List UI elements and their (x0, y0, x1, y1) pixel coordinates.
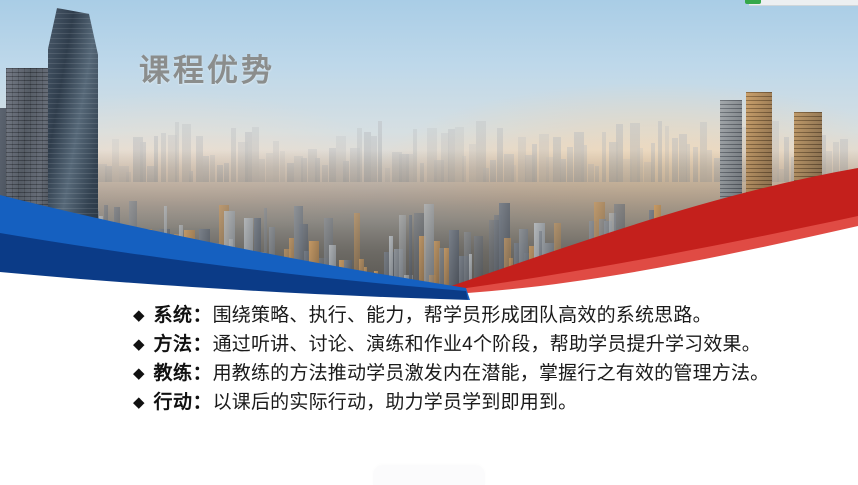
bullet-label: 系统 (154, 306, 193, 325)
bullet-colon: ： (193, 364, 212, 383)
bullet-colon: ： (193, 393, 212, 412)
diamond-bullet-icon: ◆ (133, 395, 145, 410)
page-title: 课程优势 (139, 45, 275, 90)
right-tower-warm-2 (794, 112, 822, 300)
right-tower-warm-1 (746, 92, 772, 300)
bullet-text: 用教练的方法推动学员激发内在潜能，掌握行之有效的管理方法。 (213, 364, 770, 383)
hero-cityscape-photo (0, 0, 858, 300)
bullet-colon: ： (193, 335, 212, 354)
green-status-marker (745, 0, 761, 4)
bullet-text: 通过听讲、讨论、演练和作业4个阶段，帮助学员提升学习效果。 (213, 335, 761, 354)
list-item: ◆ 方法 ： 通过听讲、讨论、演练和作业4个阶段，帮助学员提升学习效果。 (0, 335, 858, 354)
top-toolbar-strip[interactable] (749, 0, 858, 6)
left-tower-mid (6, 68, 48, 300)
slide-canvas: 课程优势 ◆ 系统 ： 围绕策略、执行、能力，帮学员形成团队高效的系统思路。 ◆… (0, 0, 858, 485)
bullet-text: 围绕策略、执行、能力，帮学员形成团队高效的系统思路。 (213, 306, 712, 325)
bullet-colon: ： (193, 306, 212, 325)
bullet-label: 行动 (154, 393, 193, 412)
diamond-bullet-icon: ◆ (133, 366, 145, 381)
diamond-bullet-icon: ◆ (133, 337, 145, 352)
bullet-label: 方法 (154, 335, 193, 354)
list-item: ◆ 教练 ： 用教练的方法推动学员激发内在潜能，掌握行之有效的管理方法。 (0, 364, 858, 383)
advantages-list: ◆ 系统 ： 围绕策略、执行、能力，帮学员形成团队高效的系统思路。 ◆ 方法 ：… (0, 300, 858, 422)
diamond-bullet-icon: ◆ (133, 308, 145, 323)
right-tower-gray (720, 100, 742, 300)
bottom-faint-control[interactable] (373, 465, 485, 485)
bullet-label: 教练 (154, 364, 193, 383)
bullet-text: 以课后的实际行动，助力学员学到即用到。 (213, 393, 578, 412)
left-tower-main-skyscraper (48, 8, 98, 300)
list-item: ◆ 系统 ： 围绕策略、执行、能力，帮学员形成团队高效的系统思路。 (0, 306, 858, 325)
list-item: ◆ 行动 ： 以课后的实际行动，助力学员学到即用到。 (0, 393, 858, 412)
